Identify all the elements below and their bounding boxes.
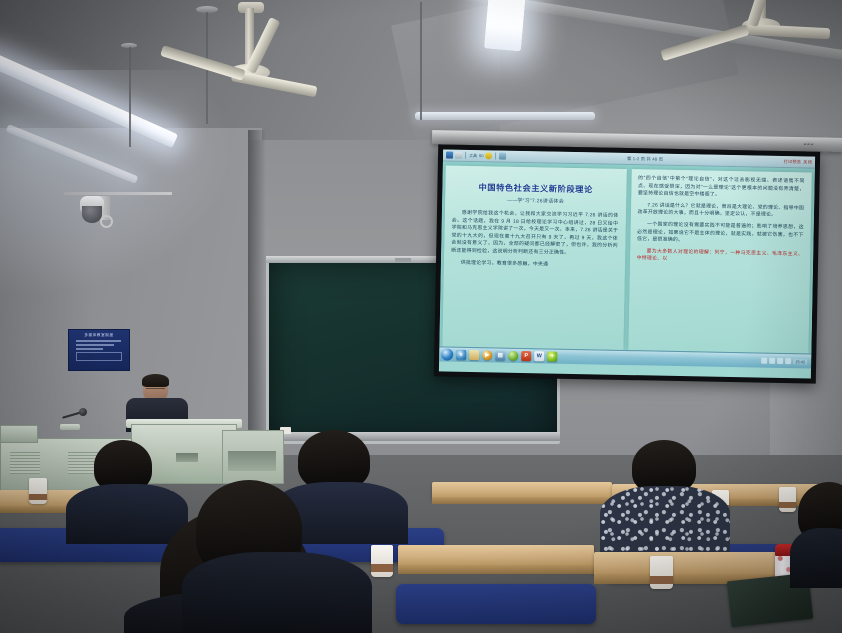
system-tray[interactable]: 15:42 bbox=[761, 358, 809, 365]
tray-icon[interactable] bbox=[777, 358, 783, 364]
media-player-icon[interactable]: ▶ bbox=[482, 350, 492, 360]
toolbar-separator bbox=[465, 152, 466, 159]
save-floppy-icon[interactable]: ▤ bbox=[495, 350, 505, 360]
presenter-hair bbox=[142, 374, 169, 387]
paper-cup bbox=[650, 556, 673, 589]
document-pages[interactable]: 中国特色社会主义新阶段理论 ——学“习”7.26讲话体会 感谢学院给我这个机会，… bbox=[439, 161, 814, 353]
paragraph: 7.26 讲话是什么？它就是理论，而且是大理论、党的理论、指导中国改革开放理论的… bbox=[637, 202, 804, 220]
green-app-icon[interactable] bbox=[508, 351, 518, 361]
page-setup-icon[interactable] bbox=[499, 153, 506, 160]
zoom-level[interactable]: 50 bbox=[479, 153, 484, 158]
person-hair bbox=[298, 430, 370, 490]
camera-rail bbox=[64, 192, 172, 195]
presenter-glasses-icon bbox=[146, 388, 165, 393]
toolbar-spacer bbox=[509, 156, 626, 158]
hanging-rod bbox=[129, 47, 131, 147]
highlighted-paragraph: 要为大多数人对理论的理解：列宁，一种马克思主义、毛泽东主义、中特理论、以 bbox=[637, 248, 804, 266]
tray-icon[interactable] bbox=[769, 358, 775, 364]
paper-cup bbox=[779, 487, 796, 512]
fluorescent-tube-light bbox=[415, 112, 595, 120]
projected-desktop: 工具 50 第 1-2 页 共 48 页 打印预览 关闭 中国特色社会主义新阶段… bbox=[439, 149, 815, 378]
toolbar-spacer bbox=[665, 159, 782, 161]
desk-edge bbox=[398, 565, 594, 574]
fluorescent-tube-light bbox=[484, 0, 527, 51]
folder-icon[interactable] bbox=[469, 350, 479, 360]
slide-subtitle: ——学“习”7.26讲话体会 bbox=[452, 196, 619, 206]
start-button-icon[interactable] bbox=[441, 348, 453, 360]
microphone-icon bbox=[79, 408, 87, 416]
toolbar-separator bbox=[495, 152, 496, 159]
tray-icon[interactable] bbox=[785, 358, 791, 364]
person-shoulders bbox=[182, 552, 372, 633]
desk-edge bbox=[432, 497, 612, 504]
powerpoint-icon[interactable]: P bbox=[521, 351, 531, 361]
print-preview-label[interactable]: 打印预览 bbox=[784, 158, 802, 164]
light-glow bbox=[0, 70, 240, 300]
paper-cup bbox=[371, 545, 393, 577]
cup-band bbox=[779, 502, 796, 508]
side-cabinet-shelf bbox=[228, 451, 276, 471]
active-window-icon[interactable]: ✦ bbox=[547, 351, 557, 361]
tools-label[interactable]: 工具 bbox=[469, 152, 477, 158]
classroom-scene: 多媒体教室制度 ▰▰▰ 工具 50 第 1-2 页 共 48 页 bbox=[0, 0, 842, 633]
page-indicator: 第 1-2 页 共 48 页 bbox=[627, 155, 663, 162]
wall-sign-box bbox=[76, 352, 122, 361]
cabinet-vent bbox=[10, 452, 40, 474]
paragraph: 感谢学院给我这个机会，让我和大家交流学习习近平 7.26 讲话的体会。这个话题，… bbox=[451, 210, 618, 259]
wall-sign-title: 多媒体教室制度 bbox=[73, 333, 125, 338]
document-page-left[interactable]: 中国特色社会主义新阶段理论 ——学“习”7.26讲话体会 感谢学院给我这个机会，… bbox=[442, 166, 626, 350]
word-icon[interactable]: W bbox=[534, 351, 544, 361]
paragraph: 的“四个自信”中第个“理论自信”，对这个过去影视无端、表述语焉不同点、现在感受很… bbox=[638, 175, 805, 201]
projection-screen: 工具 50 第 1-2 页 共 48 页 打印预览 关闭 中国特色社会主义新阶段… bbox=[434, 144, 820, 383]
camera-arm bbox=[100, 215, 113, 228]
person-shoulders bbox=[66, 484, 188, 544]
magnifier-icon[interactable] bbox=[455, 152, 462, 159]
camera-dome-icon bbox=[82, 206, 102, 223]
chalkboard-clip bbox=[395, 258, 411, 262]
paragraph: 一个国家的理论没有需要实践不可能是普遍的；影响了培养思想，这必然是理论，如果说它… bbox=[637, 221, 804, 247]
hanging-rod bbox=[420, 2, 422, 120]
cup-band bbox=[371, 564, 393, 572]
wall-sign-line bbox=[76, 340, 121, 342]
wall-sign: 多媒体教室制度 bbox=[68, 329, 130, 371]
person-shoulders-floral bbox=[600, 486, 730, 552]
highlight-icon[interactable] bbox=[485, 152, 492, 159]
chair-back bbox=[396, 584, 596, 624]
paper-cup bbox=[29, 478, 47, 504]
slide-title: 中国特色社会主义新阶段理论 bbox=[452, 181, 619, 196]
cup-band bbox=[29, 494, 47, 500]
wall-sign-line bbox=[76, 344, 114, 346]
microphone-base bbox=[60, 424, 80, 430]
paragraph: 供批理论学习，教育很多感触，中央通 bbox=[451, 259, 618, 270]
person-shoulders bbox=[790, 528, 842, 588]
taskbar-clock: 15:42 bbox=[793, 359, 807, 364]
equipment-cabinet bbox=[0, 425, 38, 443]
lectern-panel bbox=[176, 453, 198, 462]
print-icon[interactable] bbox=[446, 152, 453, 159]
desk bbox=[398, 545, 594, 567]
cup-band bbox=[650, 576, 673, 584]
wall-corner-shadow bbox=[248, 130, 266, 470]
tray-icon[interactable] bbox=[761, 358, 767, 364]
close-button[interactable]: 关闭 bbox=[803, 159, 812, 165]
wall-sign-line bbox=[76, 348, 103, 350]
document-page-right[interactable]: 的“四个自信”中第个“理论自信”，对这个过去影视无端、表述语焉不同点、现在感受很… bbox=[628, 169, 812, 353]
internet-explorer-icon[interactable]: e bbox=[456, 350, 466, 360]
